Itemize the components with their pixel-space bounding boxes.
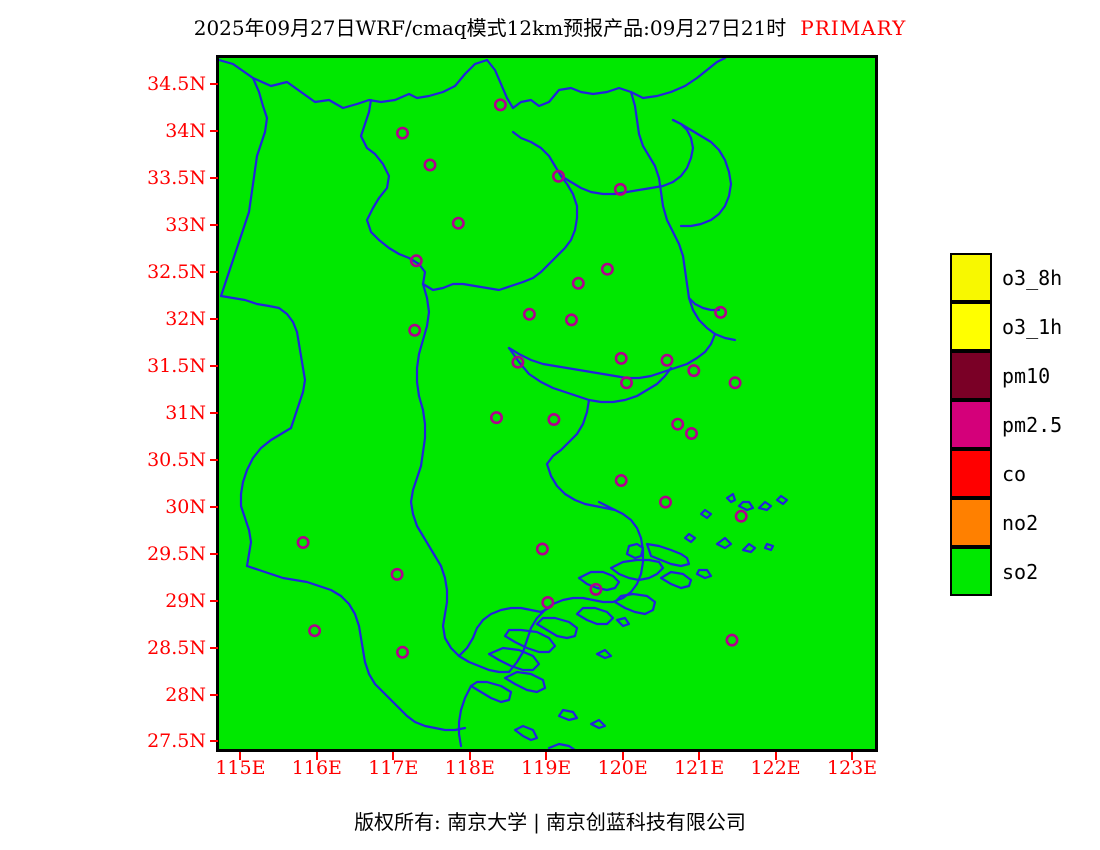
y-axis-tick-label: 34.5N	[80, 73, 206, 95]
station-marker[interactable]	[736, 511, 746, 521]
footer-company-text: 南京创蓝科技有限公司	[546, 810, 746, 834]
station-marker[interactable]	[715, 307, 725, 317]
y-axis-tick-label: 31.5N	[80, 355, 206, 377]
legend-label: no2	[1002, 511, 1038, 535]
x-axis-tick-mark	[775, 752, 777, 760]
station-marker[interactable]	[410, 325, 420, 335]
y-axis-tick-label: 28.5N	[80, 637, 206, 659]
page-title: 2025年09月27日WRF/cmaq模式12km预报产品:09月27日21时P…	[0, 12, 1100, 41]
title-primary-label: PRIMARY	[800, 16, 906, 40]
y-axis-tick-mark	[210, 271, 218, 273]
legend-color-swatch	[950, 302, 992, 351]
station-marker[interactable]	[566, 315, 576, 325]
station-marker[interactable]	[425, 160, 435, 170]
legend-label: o3_1h	[1002, 315, 1062, 339]
y-axis-tick-mark	[210, 365, 218, 367]
footer-separator: |	[533, 810, 540, 834]
legend-color-swatch	[950, 547, 992, 596]
station-marker[interactable]	[673, 419, 683, 429]
x-axis-tick-label: 118E	[445, 757, 495, 779]
legend-color-swatch	[950, 498, 992, 547]
y-axis-tick-mark	[210, 694, 218, 696]
station-marker[interactable]	[662, 355, 672, 365]
legend-label: pm2.5	[1002, 413, 1062, 437]
legend-label: o3_8h	[1002, 266, 1062, 290]
y-axis-tick-label: 34N	[80, 120, 206, 142]
x-axis-tick-mark	[469, 752, 471, 760]
y-axis-tick-label: 31N	[80, 402, 206, 424]
station-marker[interactable]	[549, 414, 559, 424]
footer-copyright-text: 版权所有: 南京大学	[354, 810, 527, 834]
station-marker[interactable]	[616, 353, 626, 363]
station-marker[interactable]	[495, 100, 505, 110]
station-marker[interactable]	[453, 218, 463, 228]
x-axis-tick-label: 115E	[215, 757, 265, 779]
legend-label: so2	[1002, 560, 1038, 584]
legend-color-swatch	[950, 449, 992, 498]
x-axis-tick-mark	[545, 752, 547, 760]
station-marker[interactable]	[537, 544, 547, 554]
x-axis-tick-label: 123E	[827, 757, 877, 779]
y-axis-tick-mark	[210, 318, 218, 320]
station-marker[interactable]	[727, 635, 737, 645]
y-axis-tick-label: 28N	[80, 684, 206, 706]
legend-label: co	[1002, 462, 1026, 486]
y-axis-tick-mark	[210, 224, 218, 226]
y-axis-tick-mark	[210, 647, 218, 649]
y-axis-tick-label: 32N	[80, 308, 206, 330]
x-axis-tick-label: 117E	[368, 757, 418, 779]
x-axis-tick-mark	[392, 752, 394, 760]
station-marker[interactable]	[660, 497, 670, 507]
station-marker[interactable]	[491, 412, 501, 422]
y-axis-tick-label: 29N	[80, 590, 206, 612]
station-marker[interactable]	[298, 537, 308, 547]
map-vector-layer	[219, 58, 875, 749]
y-axis-tick-mark	[210, 130, 218, 132]
y-axis-tick-mark	[210, 506, 218, 508]
y-axis-tick-mark	[210, 600, 218, 602]
station-marker[interactable]	[621, 378, 631, 388]
y-axis-tick-label: 33.5N	[80, 167, 206, 189]
station-marker[interactable]	[543, 597, 553, 607]
y-axis-tick-mark	[210, 459, 218, 461]
x-axis-tick-label: 120E	[598, 757, 648, 779]
x-axis-tick-label: 116E	[292, 757, 342, 779]
x-axis-tick-label: 119E	[521, 757, 571, 779]
y-axis-tick-label: 33N	[80, 214, 206, 236]
station-marker[interactable]	[616, 475, 626, 485]
y-axis-tick-label: 29.5N	[80, 543, 206, 565]
administrative-boundaries	[219, 58, 787, 749]
station-marker[interactable]	[573, 278, 583, 288]
legend-color-swatch	[950, 400, 992, 449]
legend-label: pm10	[1002, 364, 1050, 388]
y-axis-tick-mark	[210, 412, 218, 414]
station-marker[interactable]	[397, 647, 407, 657]
y-axis-tick-label: 30N	[80, 496, 206, 518]
y-axis-tick-mark	[210, 177, 218, 179]
y-axis-tick-label: 27.5N	[80, 730, 206, 752]
y-axis-tick-mark	[210, 83, 218, 85]
y-axis-tick-mark	[210, 740, 218, 742]
y-axis-tick-mark	[210, 553, 218, 555]
x-axis-tick-mark	[316, 752, 318, 760]
station-marker[interactable]	[686, 428, 696, 438]
footer-copyright: 版权所有: 南京大学|南京创蓝科技有限公司	[0, 806, 1100, 835]
station-marker[interactable]	[730, 378, 740, 388]
x-axis-tick-mark	[698, 752, 700, 760]
x-axis-tick-mark	[622, 752, 624, 760]
forecast-map-page: 2025年09月27日WRF/cmaq模式12km预报产品:09月27日21时P…	[0, 0, 1100, 850]
title-main-text: 2025年09月27日WRF/cmaq模式12km预报产品:09月27日21时	[194, 16, 787, 40]
x-axis-tick-mark	[851, 752, 853, 760]
station-marker[interactable]	[392, 569, 402, 579]
station-marker[interactable]	[309, 626, 319, 636]
station-marker[interactable]	[602, 264, 612, 274]
station-marker[interactable]	[397, 128, 407, 138]
map-canvas[interactable]	[216, 55, 878, 752]
x-axis-tick-label: 121E	[674, 757, 724, 779]
legend-color-swatch	[950, 351, 992, 400]
station-marker[interactable]	[524, 309, 534, 319]
station-marker[interactable]	[689, 365, 699, 375]
y-axis-tick-label: 32.5N	[80, 261, 206, 283]
x-axis-tick-mark	[239, 752, 241, 760]
legend-color-swatch	[950, 253, 992, 302]
y-axis-tick-label: 30.5N	[80, 449, 206, 471]
x-axis-tick-label: 122E	[751, 757, 801, 779]
